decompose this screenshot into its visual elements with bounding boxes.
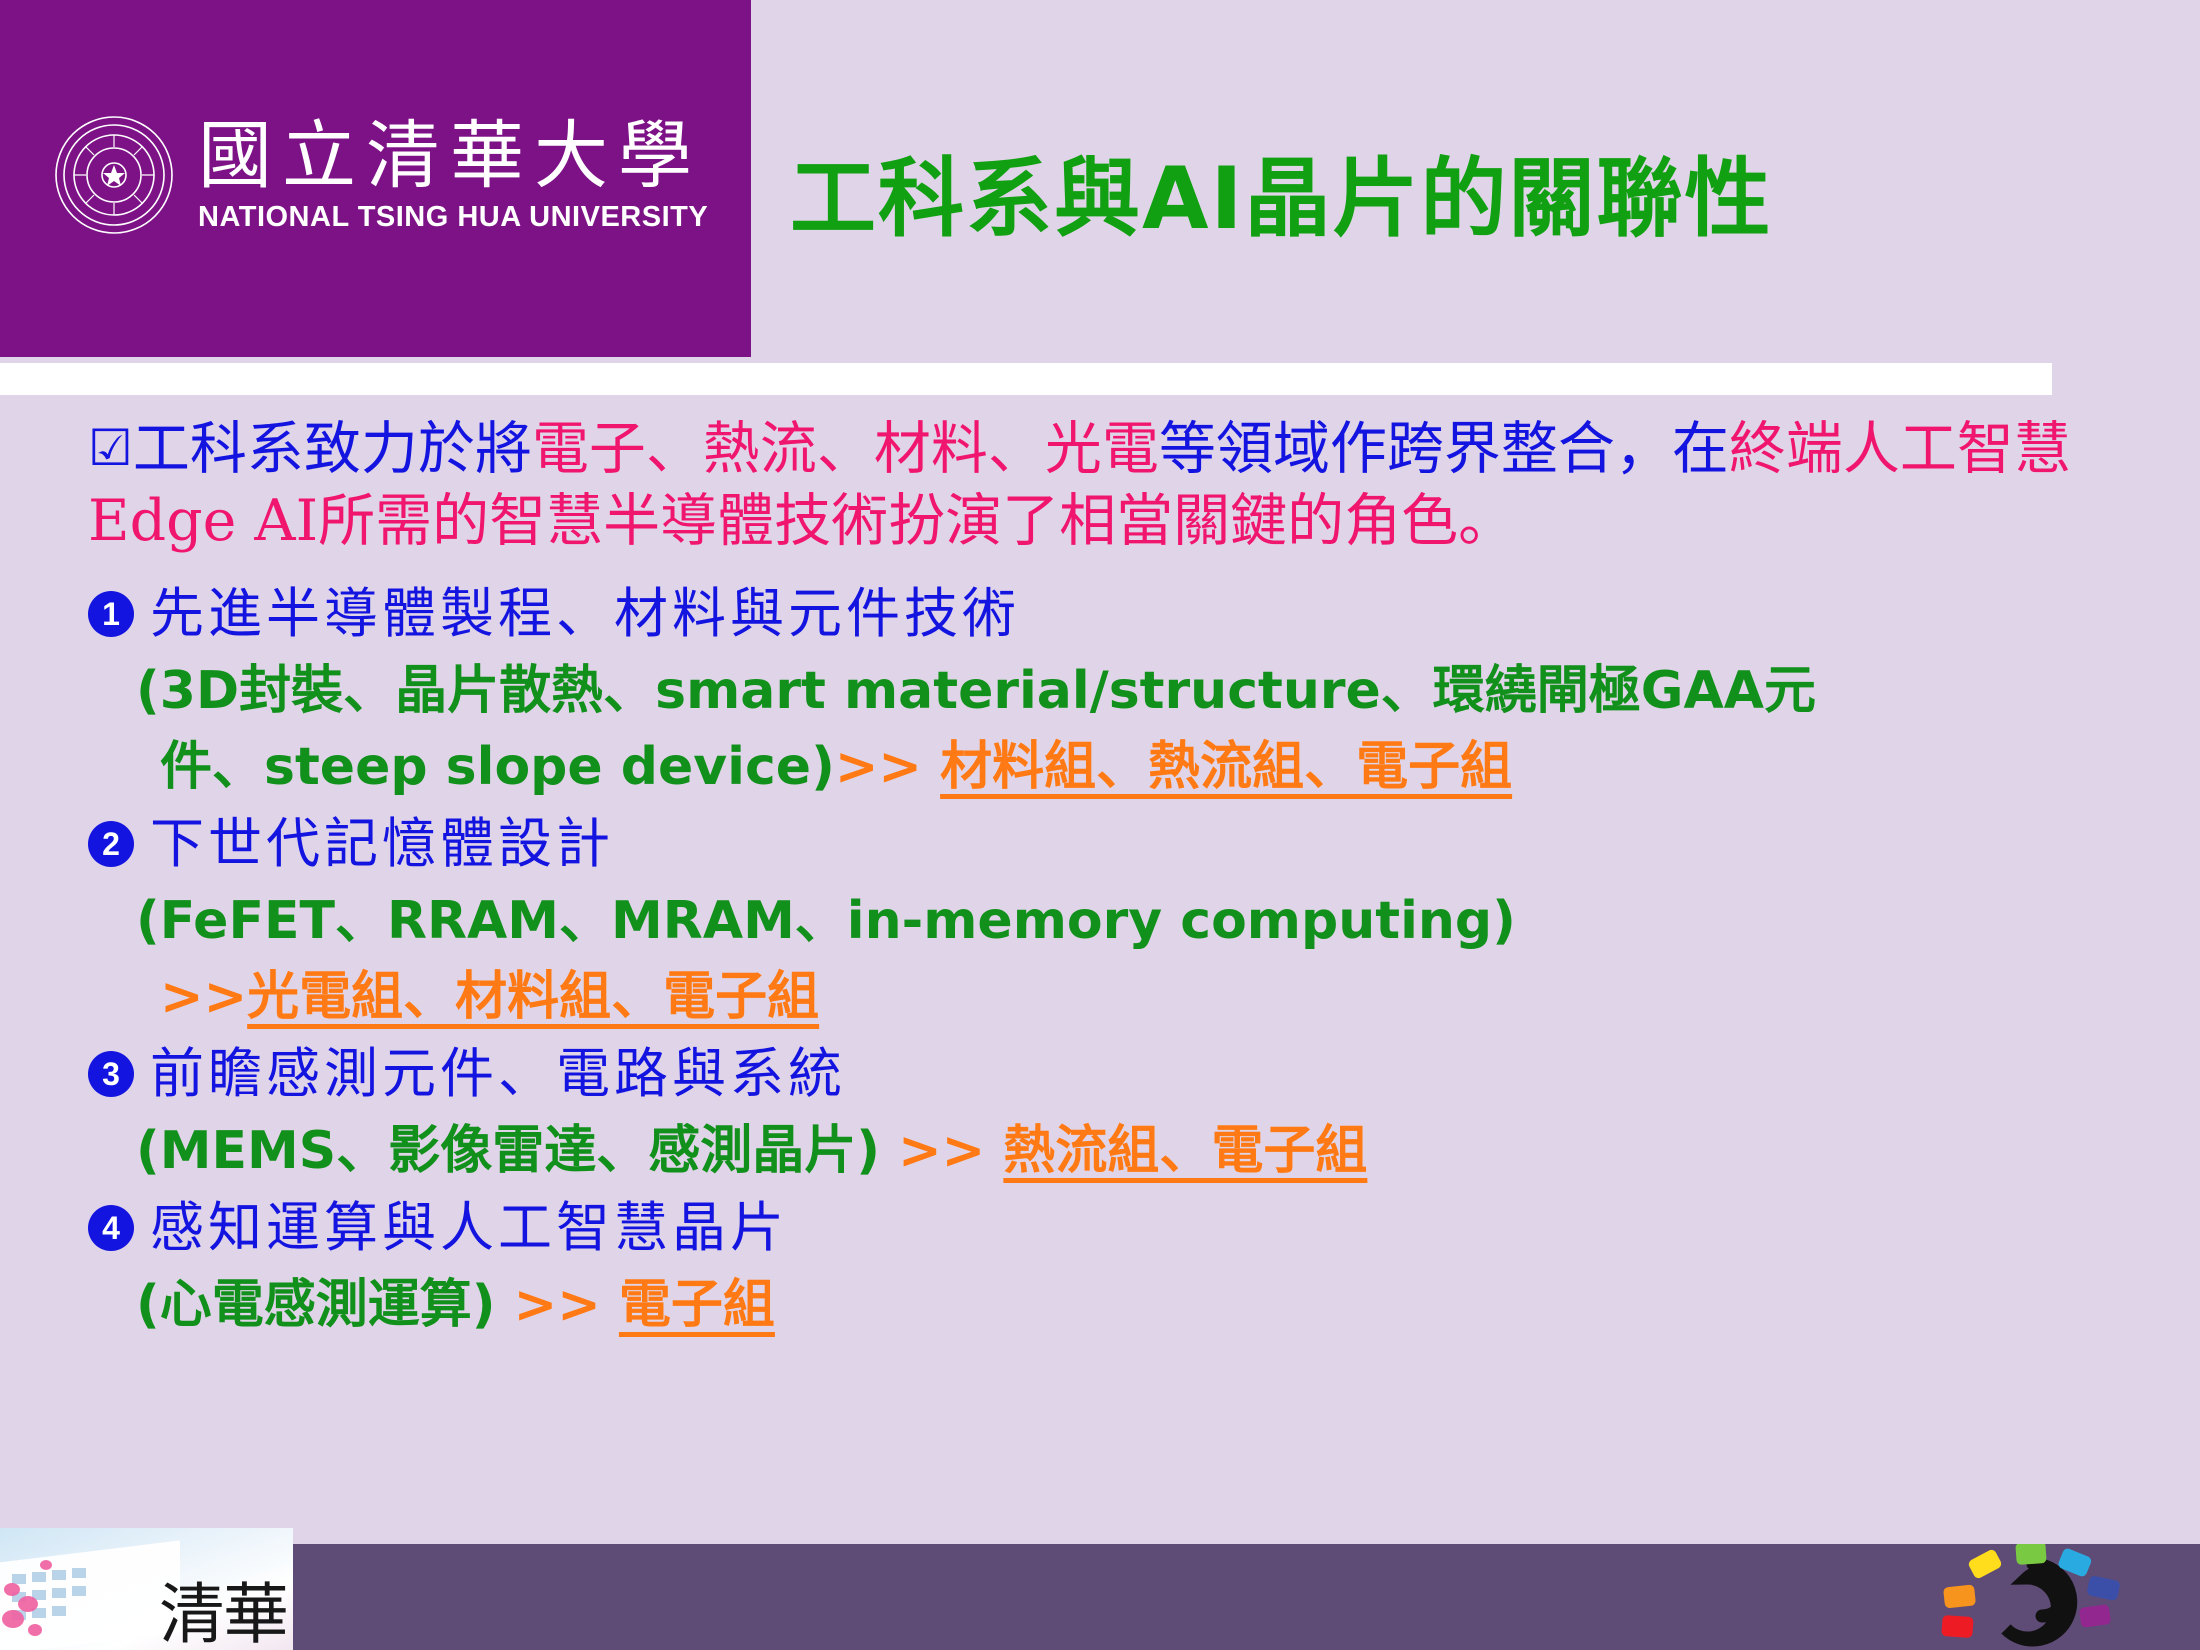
bullet-4-detail-line-1: (心電感測運算) >> 電子組: [136, 1267, 2200, 1343]
bullet-3-arrow: >>: [898, 1121, 985, 1181]
presentation-slide: 國立清華大學 NATIONAL TSING HUA UNIVERSITY 工科系…: [0, 0, 2200, 1650]
bullet-4-groups: 電子組: [619, 1274, 775, 1335]
bullet-1-groups: 材料組、熱流組、電子組: [940, 736, 1512, 797]
window: [72, 1586, 86, 1596]
bullet-4-detail-text-1: (心電感測運算): [136, 1275, 496, 1335]
bullet-3-detail-text-1: (MEMS、影像雷達、感測晶片): [136, 1121, 880, 1181]
blossom: [40, 1560, 52, 1570]
blossom: [2, 1610, 24, 1628]
window: [32, 1572, 46, 1582]
bullet-4-arrow: >>: [514, 1275, 601, 1335]
page-title: 工科系與AI晶片的關聯性: [790, 128, 2160, 253]
lead-part-1: 工科系致力於將: [133, 416, 532, 482]
list-item: 4 感知運算與人工智慧晶片 (心電感測運算) >> 電子組: [0, 1189, 2200, 1343]
bullet-1-heading: 先進半導體製程、材料與元件技術: [150, 575, 1020, 653]
blossom: [18, 1596, 38, 1612]
university-name-cn: 國立清華大學: [198, 119, 708, 193]
lead-part-2: 電子、熱流、材料、光電: [532, 416, 1159, 482]
bullet-1-detail-text-1: (3D封裝、晶片散熱、smart material/structure、環繞閘極…: [136, 661, 1816, 721]
bullet-2-heading-row: 2 下世代記憶體設計: [88, 805, 2200, 883]
lead-part-3: 等領域作跨界整合，在: [1159, 416, 1729, 482]
university-seal-icon: [52, 113, 176, 237]
bullet-4-heading-row: 4 感知運算與人工智慧晶片: [88, 1189, 2200, 1267]
window: [52, 1606, 66, 1616]
bullet-1-heading-row: 1 先進半導體製程、材料與元件技術: [88, 575, 2200, 653]
bullet-1-detail-text-2: 件、steep slope device): [160, 737, 835, 797]
bullet-2-arrow: >>: [160, 967, 247, 1027]
bullet-1-detail-line-1: (3D封裝、晶片散熱、smart material/structure、環繞閘極…: [136, 653, 2200, 729]
bullet-3-heading: 前瞻感測元件、電路與系統: [150, 1035, 846, 1113]
bullet-3-detail-line-1: (MEMS、影像雷達、感測晶片) >> 熱流組、電子組: [136, 1113, 2200, 1189]
window: [72, 1568, 86, 1578]
bullet-4-heading: 感知運算與人工智慧晶片: [150, 1189, 788, 1267]
bullet-3-heading-row: 3 前瞻感測元件、電路與系統: [88, 1035, 2200, 1113]
bullet-3-groups: 熱流組、電子組: [1003, 1120, 1367, 1181]
campus-photo: 清華: [0, 1528, 293, 1650]
bullet-2-groups-row: >>光電組、材料組、電子組: [160, 959, 2200, 1035]
window: [52, 1570, 66, 1580]
bullet-1-number: 1: [88, 591, 134, 637]
lead-paragraph: ☑工科系致力於將電子、熱流、材料、光電等領域作跨界整合，在終端人工智慧Edge …: [88, 412, 2160, 557]
list-item: 3 前瞻感測元件、電路與系統 (MEMS、影像雷達、感測晶片) >> 熱流組、電…: [0, 1035, 2200, 1189]
checkbox-icon: ☑: [88, 419, 133, 477]
header-separator: [0, 363, 2052, 395]
bullet-4-number: 4: [88, 1205, 134, 1251]
blossom: [4, 1583, 20, 1596]
bullet-2-groups: 光電組、材料組、電子組: [247, 966, 819, 1027]
list-item: 1 先進半導體製程、材料與元件技術 (3D封裝、晶片散熱、smart mater…: [0, 575, 2200, 805]
footer-band: [0, 1544, 2200, 1650]
swirl-logo-icon: [1908, 1544, 2158, 1648]
bullet-2-detail-line-1: (FeFET、RRAM、MRAM、in-memory computing): [136, 883, 2200, 959]
campus-calligraphy: 清華: [159, 1582, 287, 1648]
bullet-2-detail-text-1: (FeFET、RRAM、MRAM、in-memory computing): [136, 891, 1516, 951]
slide-body: ☑工科系致力於將電子、熱流、材料、光電等領域作跨界整合，在終端人工智慧Edge …: [0, 412, 2200, 1343]
university-logo: 國立清華大學 NATIONAL TSING HUA UNIVERSITY: [52, 110, 712, 240]
bullet-list: 1 先進半導體製程、材料與元件技術 (3D封裝、晶片散熱、smart mater…: [0, 575, 2200, 1343]
window: [52, 1588, 66, 1598]
bullet-3-number: 3: [88, 1051, 134, 1097]
bullet-2-heading: 下世代記憶體設計: [150, 805, 614, 883]
bullet-1-detail-line-2: 件、steep slope device)>> 材料組、熱流組、電子組: [160, 729, 2200, 805]
bullet-1-arrow: >>: [835, 737, 922, 797]
university-name-en: NATIONAL TSING HUA UNIVERSITY: [198, 203, 708, 232]
blossom: [28, 1624, 42, 1636]
list-item: 2 下世代記憶體設計 (FeFET、RRAM、MRAM、in-memory co…: [0, 805, 2200, 1035]
bullet-2-number: 2: [88, 821, 134, 867]
